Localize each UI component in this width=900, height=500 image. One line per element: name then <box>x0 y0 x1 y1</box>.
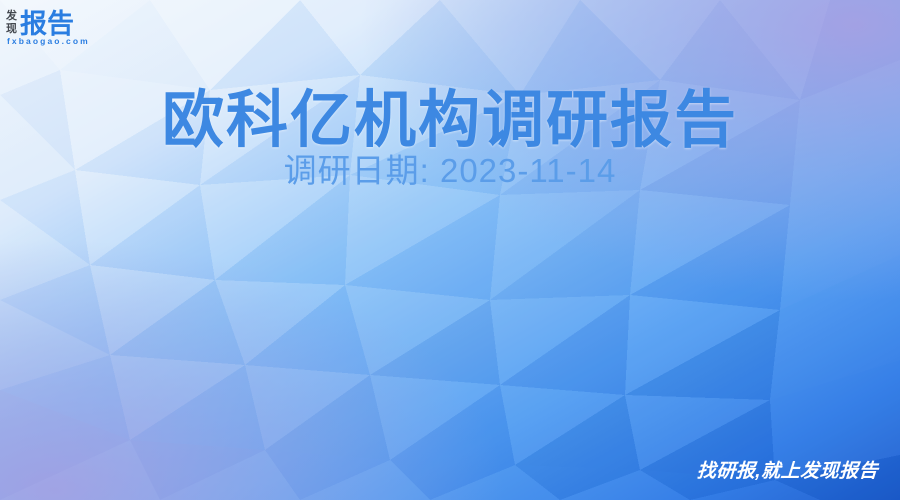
logo-main-text: 报告 <box>20 10 74 38</box>
logo-wordmark: 发 现 报告 <box>6 9 74 39</box>
brand-logo[interactable]: 发 现 报告 <box>6 9 102 53</box>
footer-slogan: 找研报,就上发现报告 <box>696 456 879 483</box>
page-title: 欧科亿机构调研报告 <box>0 84 900 158</box>
logo-url: fxbaogao.com <box>7 36 90 46</box>
low-poly-background <box>0 0 900 500</box>
logo-stacked-chars: 发 现 <box>6 11 17 37</box>
title-block: 欧科亿机构调研报告 <box>0 84 900 158</box>
page-subtitle: 调研日期: 2023-11-14 <box>0 149 900 193</box>
report-cover-slide: 发 现 报告 fxbaogao.com 欧科亿机构调研报告 调研日期: 2023… <box>0 0 900 500</box>
